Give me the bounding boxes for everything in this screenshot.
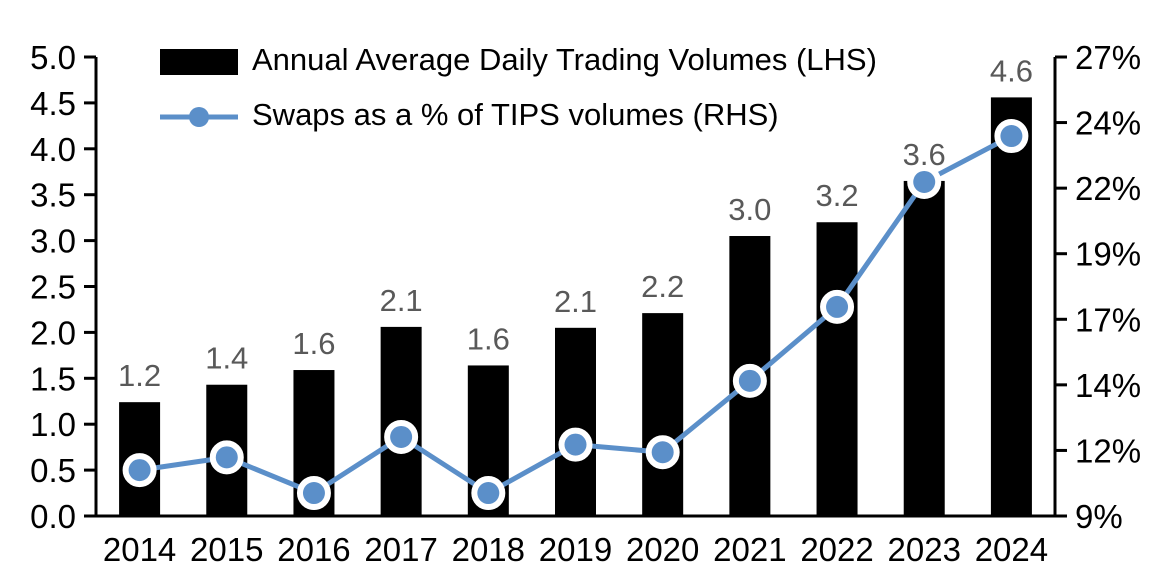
right-axis-tick-label-9%: 9%	[1075, 498, 1123, 535]
line-marker-2018	[472, 477, 504, 509]
bar-value-label-2014: 1.2	[118, 358, 161, 393]
left-axis-tick-label-5.0: 5.0	[30, 39, 76, 76]
bar-value-label-2024: 4.6	[990, 53, 1033, 88]
right-axis-tick-label-14%: 14%	[1075, 367, 1141, 404]
right-axis-tick-label-27%: 27%	[1075, 39, 1141, 76]
bar-value-label-2016: 1.6	[292, 326, 335, 361]
bar-value-label-2021: 3.0	[728, 192, 771, 227]
category-label-2015: 2015	[190, 531, 263, 568]
right-axis-tick-label-19%: 19%	[1075, 236, 1141, 273]
line-marker-2022	[821, 291, 853, 323]
bar-2023	[904, 181, 945, 516]
category-label-2017: 2017	[364, 531, 437, 568]
line-marker-2014	[124, 454, 156, 486]
legend-item-swaps-as-a-percent-of-tips-volumes: Swaps as a % of TIPS volumes (RHS)	[160, 97, 779, 132]
legend-bar-swatch-icon	[160, 49, 238, 75]
bar-value-label-2023: 3.6	[903, 137, 946, 172]
category-label-2024: 2024	[975, 531, 1048, 568]
right-axis-tick-label-24%: 24%	[1075, 105, 1141, 142]
right-axis-tick-label-12%: 12%	[1075, 432, 1141, 469]
line-marker-2017	[385, 421, 417, 453]
bar-2020	[642, 313, 683, 516]
legend-marker-icon	[189, 107, 209, 127]
left-axis-tick-label-1.5: 1.5	[30, 360, 76, 397]
category-label-2021: 2021	[713, 531, 786, 568]
left-axis-tick-label-4.0: 4.0	[30, 131, 76, 168]
left-axis-tick-label-2.5: 2.5	[30, 269, 76, 306]
category-label-2023: 2023	[888, 531, 961, 568]
bar-2022	[817, 222, 858, 516]
category-label-2019: 2019	[539, 531, 612, 568]
category-label-2014: 2014	[103, 531, 176, 568]
combo-chart: 1.21.41.62.11.62.12.23.03.23.64.6 0.00.5…	[0, 0, 1152, 584]
bar-value-label-2015: 1.4	[205, 341, 248, 376]
bar-value-label-2020: 2.2	[641, 269, 684, 304]
left-axis-tick-label-4.5: 4.5	[30, 85, 76, 122]
bar-value-label-2017: 2.1	[380, 283, 423, 318]
bar-value-label-2018: 1.6	[467, 321, 510, 356]
left-axis-tick-label-0.5: 0.5	[30, 452, 76, 489]
legend-item-annual-average-daily-trading-volumes: Annual Average Daily Trading Volumes (LH…	[160, 42, 877, 77]
category-label-2022: 2022	[800, 531, 873, 568]
category-label-2018: 2018	[452, 531, 525, 568]
left-axis-tick-label-0.0: 0.0	[30, 498, 76, 535]
category-label-2016: 2016	[277, 531, 350, 568]
chart-legend: Annual Average Daily Trading Volumes (LH…	[160, 42, 877, 132]
line-marker-2019	[560, 429, 592, 461]
line-marker-2021	[734, 365, 766, 397]
bar-2019	[555, 328, 596, 516]
left-axis-tick-label-1.0: 1.0	[30, 406, 76, 443]
category-label-2020: 2020	[626, 531, 699, 568]
legend-label-rhs: Swaps as a % of TIPS volumes (RHS)	[252, 97, 779, 132]
right-axis-tick-label-22%: 22%	[1075, 170, 1141, 207]
line-marker-2024	[995, 120, 1027, 152]
right-axis-tick-label-17%: 17%	[1075, 301, 1141, 338]
right-axis: 9%12%14%17%19%22%24%27%	[1055, 39, 1141, 535]
left-axis-tick-label-3.5: 3.5	[30, 177, 76, 214]
left-axis-tick-label-3.0: 3.0	[30, 223, 76, 260]
line-marker-2015	[211, 441, 243, 473]
left-axis: 0.00.51.01.52.02.53.03.54.04.55.0	[30, 39, 96, 535]
bar-value-label-2019: 2.1	[554, 284, 597, 319]
legend-label-lhs: Annual Average Daily Trading Volumes (LH…	[252, 42, 877, 77]
left-axis-tick-label-2.0: 2.0	[30, 314, 76, 351]
line-marker-2016	[298, 477, 330, 509]
bar-2024	[991, 97, 1032, 516]
bar-value-label-2022: 3.2	[815, 178, 858, 213]
line-marker-2020	[647, 436, 679, 468]
chart-container: 1.21.41.62.11.62.12.23.03.23.64.6 0.00.5…	[0, 0, 1152, 584]
category-axis: 2014201520162017201820192020202120222023…	[96, 516, 1055, 568]
